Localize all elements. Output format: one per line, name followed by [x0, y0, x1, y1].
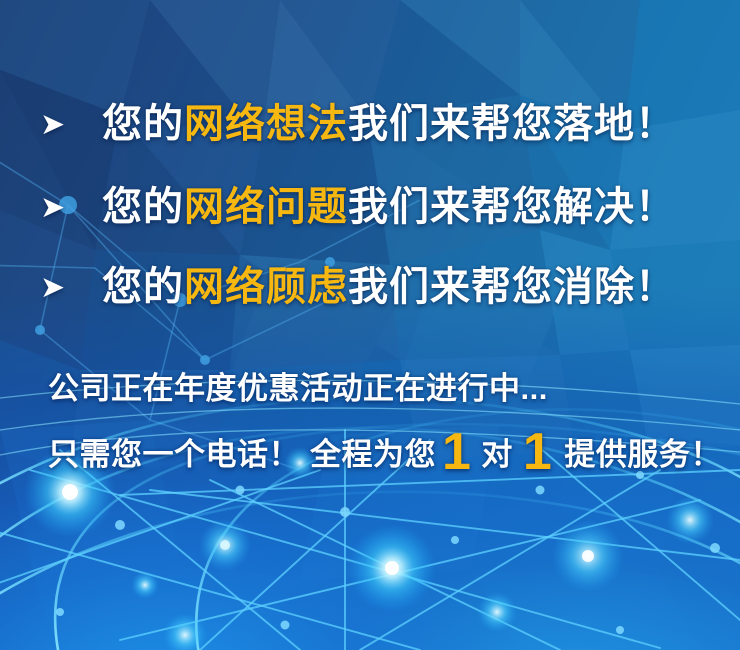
bullet-row-1: ➤ 您的网络想法我们来帮您落地！: [40, 103, 676, 146]
banner-content: ➤ 您的网络想法我们来帮您落地！ ➤ 您的网络问题我们来帮您解决！ ➤ 您的网络…: [0, 0, 740, 650]
headline-2-prefix: 您的: [102, 185, 184, 229]
arrow-right-icon: ➤: [40, 193, 82, 223]
headline-2: 您的网络问题我们来帮您解决！: [102, 186, 676, 229]
arrow-right-icon: ➤: [40, 273, 82, 303]
bullet-row-2: ➤ 您的网络问题我们来帮您解决！: [40, 186, 676, 229]
headline-1-highlight: 网络想法: [184, 102, 348, 146]
subline-2-part2: 全程为您: [300, 429, 436, 474]
headline-1: 您的网络想法我们来帮您落地！: [102, 103, 676, 146]
headline-2-suffix: 我们来帮您解决！: [348, 185, 676, 229]
headline-3-highlight: 网络顾虑: [184, 265, 348, 309]
subline-2-part1: 只需您一个电话！: [48, 429, 300, 474]
headline-3-prefix: 您的: [102, 265, 184, 309]
one-to-one-connector: 对: [477, 429, 517, 474]
promo-subline-2: 只需您一个电话！ 全程为您 1 对 1 提供服务！: [48, 428, 722, 474]
headline-1-suffix: 我们来帮您落地！: [348, 102, 676, 146]
arrow-right-icon: ➤: [40, 110, 82, 140]
headline-3: 您的网络顾虑我们来帮您消除！: [102, 266, 676, 309]
headline-1-prefix: 您的: [102, 102, 184, 146]
promo-subline-1: 公司正在年度优惠活动正在进行中...: [48, 363, 548, 408]
bullet-row-3: ➤ 您的网络顾虑我们来帮您消除！: [40, 266, 676, 309]
promo-banner: ➤ 您的网络想法我们来帮您落地！ ➤ 您的网络问题我们来帮您解决！ ➤ 您的网络…: [0, 0, 740, 650]
one-to-one-number-2: 1: [517, 432, 558, 474]
headline-2-highlight: 网络问题: [184, 185, 348, 229]
subline-2-part3: 提供服务！: [558, 429, 722, 474]
one-to-one-number-1: 1: [436, 432, 477, 474]
headline-3-suffix: 我们来帮您消除！: [348, 265, 676, 309]
